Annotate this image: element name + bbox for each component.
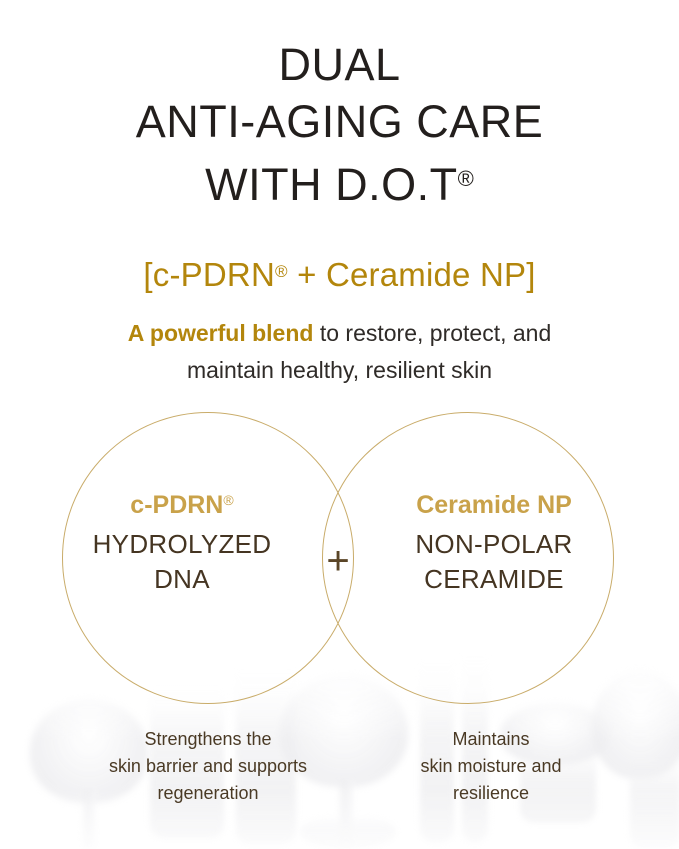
- venn-right-subtitle-line-2: CERAMIDE: [374, 562, 614, 597]
- registered-trademark-icon: ®: [223, 492, 233, 508]
- bracket-plus-text: +: [288, 256, 326, 293]
- headline-line-3: WITH D.O.T®: [0, 150, 679, 213]
- headline-line-1: DUAL: [0, 36, 679, 93]
- venn-right-subtitle-line-1: NON-POLAR: [374, 527, 614, 562]
- caption-right-line-3: resilience: [366, 780, 616, 807]
- plus-icon: +: [308, 541, 368, 581]
- caption-left-line-1: Strengthens the: [58, 726, 358, 753]
- venn-label-left: c-PDRN® HYDROLYZED DNA: [62, 485, 302, 597]
- caption-left: Strengthens the skin barrier and support…: [58, 726, 358, 807]
- venn-diagram: c-PDRN® HYDROLYZED DNA Ceramide NP NON-P…: [0, 410, 679, 710]
- venn-left-subtitle: HYDROLYZED DNA: [62, 527, 302, 597]
- description-highlight: A powerful blend: [128, 320, 314, 346]
- venn-right-title-text: Ceramide NP: [416, 491, 572, 519]
- description-line-1: A powerful blend to restore, protect, an…: [0, 315, 679, 352]
- page-title: DUAL ANTI-AGING CARE WITH D.O.T®: [0, 36, 679, 213]
- venn-right-title: Ceramide NP: [374, 485, 614, 521]
- venn-right-subtitle: NON-POLAR CERAMIDE: [374, 527, 614, 597]
- venn-left-subtitle-line-1: HYDROLYZED: [62, 527, 302, 562]
- headline-line-3-text: WITH D.O.T: [205, 159, 457, 210]
- marketing-infographic: DUAL ANTI-AGING CARE WITH D.O.T® [c-PDRN…: [0, 0, 679, 849]
- caption-right-line-1: Maintains: [366, 726, 616, 753]
- venn-left-title: c-PDRN®: [62, 485, 302, 521]
- registered-trademark-icon: ®: [275, 262, 288, 281]
- description-text: A powerful blend to restore, protect, an…: [0, 315, 679, 389]
- headline-line-2: ANTI-AGING CARE: [0, 93, 679, 150]
- benefit-captions: Strengthens the skin barrier and support…: [0, 726, 679, 826]
- caption-right: Maintains skin moisture and resilience: [366, 726, 616, 807]
- venn-label-right: Ceramide NP NON-POLAR CERAMIDE: [374, 485, 614, 597]
- venn-left-title-text: c-PDRN: [130, 491, 223, 519]
- registered-trademark-icon: ®: [458, 166, 474, 191]
- bracket-open-text: [c-PDRN: [143, 256, 275, 293]
- caption-right-line-2: skin moisture and: [366, 753, 616, 780]
- venn-left-subtitle-line-2: DNA: [62, 562, 302, 597]
- bracket-close-text: Ceramide NP]: [326, 256, 536, 293]
- ingredient-bracket-line: [c-PDRN® + Ceramide NP]: [0, 252, 679, 295]
- description-rest: to restore, protect, and: [313, 320, 551, 346]
- caption-left-line-3: regeneration: [58, 780, 358, 807]
- description-line-2: maintain healthy, resilient skin: [0, 352, 679, 389]
- caption-left-line-2: skin barrier and supports: [58, 753, 358, 780]
